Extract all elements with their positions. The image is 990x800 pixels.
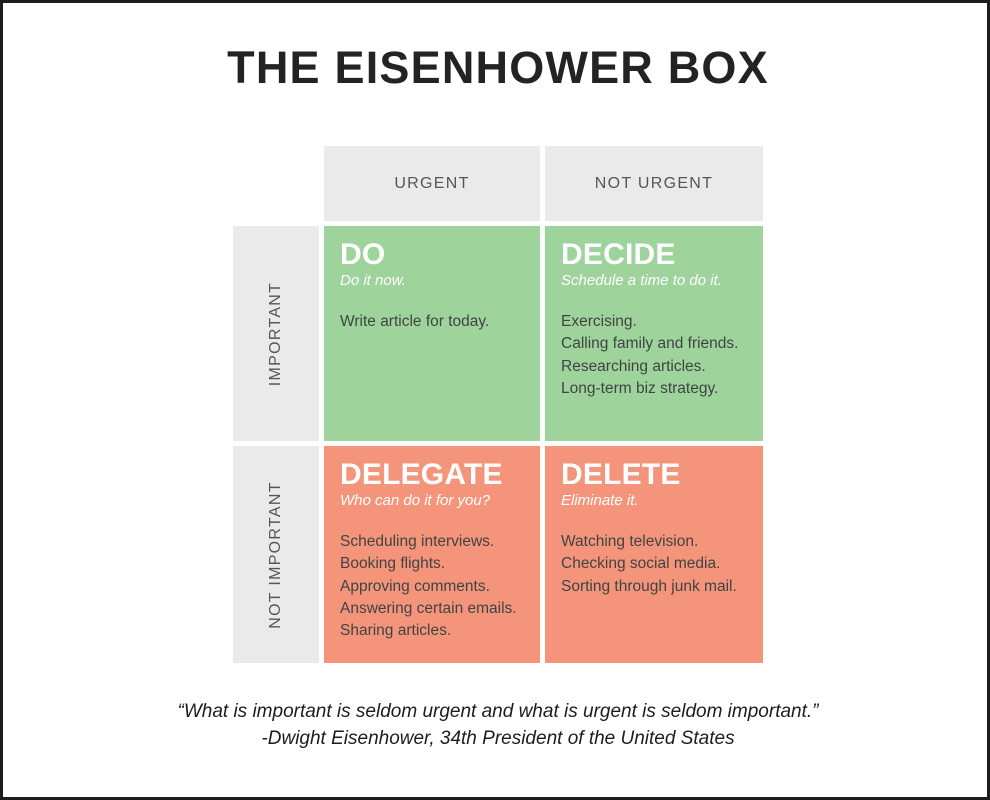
task-line: Calling family and friends. (561, 333, 747, 355)
task-line: Long-term biz strategy. (561, 378, 747, 400)
task-line: Researching articles. (561, 356, 747, 378)
page-title: THE EISENHOWER BOX (3, 43, 990, 93)
row-header-important: IMPORTANT (233, 226, 319, 441)
task-line: Watching television. (561, 531, 747, 553)
column-header-not-urgent-label: NOT URGENT (595, 175, 713, 193)
quadrant-delete: DELETE Eliminate it. Watching television… (545, 446, 763, 663)
task-line: Booking flights. (340, 553, 524, 575)
task-line: Checking social media. (561, 553, 747, 575)
task-line: Sorting through junk mail. (561, 576, 747, 598)
task-line: Answering certain emails. (340, 598, 524, 620)
quadrant-delete-task-list: Watching television.Checking social medi… (561, 531, 747, 598)
column-header-urgent-label: URGENT (394, 175, 469, 193)
quadrant-decide-title: DECIDE (561, 239, 747, 270)
column-header-not-urgent: NOT URGENT (545, 146, 763, 221)
task-line: Sharing articles. (340, 620, 524, 642)
row-header-important-label: IMPORTANT (267, 281, 285, 385)
quadrant-do-subtitle: Do it now. (340, 272, 524, 291)
quadrant-decide-subtitle: Schedule a time to do it. (561, 272, 747, 291)
quadrant-do-task-list: Write article for today. (340, 311, 524, 333)
quadrant-delegate: DELEGATE Who can do it for you? Scheduli… (324, 446, 540, 663)
quadrant-delete-title: DELETE (561, 459, 747, 490)
eisenhower-box-poster: THE EISENHOWER BOX URGENT NOT URGENT IMP… (0, 0, 990, 800)
row-header-not-important: NOT IMPORTANT (233, 446, 319, 663)
quadrant-delegate-task-list: Scheduling interviews.Booking flights.Ap… (340, 531, 524, 643)
quadrant-delegate-subtitle: Who can do it for you? (340, 492, 524, 511)
footer-quote-attribution: -Dwight Eisenhower, 34th President of th… (3, 726, 990, 753)
footer-quote-block: “What is important is seldom urgent and … (3, 699, 990, 753)
quadrant-do: DO Do it now. Write article for today. (324, 226, 540, 441)
task-line: Write article for today. (340, 311, 524, 333)
quadrant-delete-subtitle: Eliminate it. (561, 492, 747, 511)
quadrant-decide: DECIDE Schedule a time to do it. Exercis… (545, 226, 763, 441)
quadrant-delegate-title: DELEGATE (340, 459, 524, 490)
task-line: Exercising. (561, 311, 747, 333)
quadrant-do-title: DO (340, 239, 524, 270)
column-header-urgent: URGENT (324, 146, 540, 221)
quadrant-decide-task-list: Exercising.Calling family and friends.Re… (561, 311, 747, 400)
task-line: Scheduling interviews. (340, 531, 524, 553)
row-header-not-important-label: NOT IMPORTANT (267, 481, 285, 629)
eisenhower-matrix: URGENT NOT URGENT IMPORTANT NOT IMPORTAN… (233, 146, 763, 663)
footer-quote-text: “What is important is seldom urgent and … (178, 701, 819, 722)
task-line: Approving comments. (340, 576, 524, 598)
